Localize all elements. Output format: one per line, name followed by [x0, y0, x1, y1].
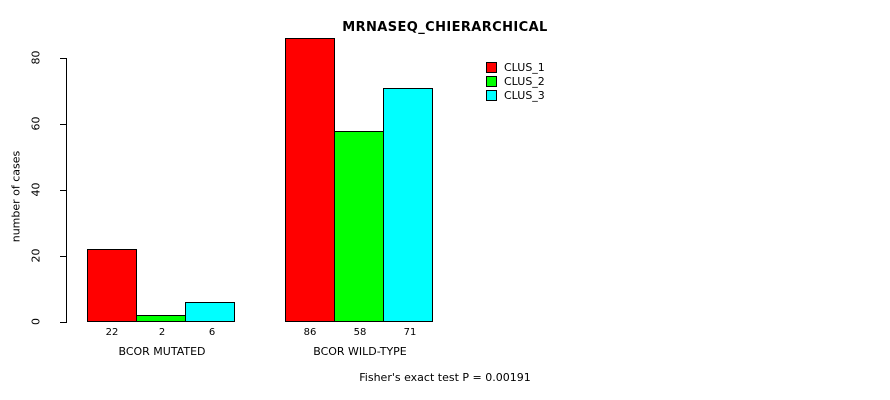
y-axis-tick-label: 0	[30, 308, 43, 336]
y-axis-tick	[60, 58, 67, 59]
y-axis-tick	[60, 190, 67, 191]
legend-color-swatch	[486, 76, 497, 87]
y-axis-tick-label: 40	[30, 176, 43, 204]
bar	[185, 302, 235, 322]
legend-item: CLUS_1	[486, 60, 545, 74]
bar-value-label: 2	[137, 327, 187, 338]
bar	[334, 131, 384, 322]
bar	[285, 38, 335, 322]
bar-value-labels: 2226	[87, 327, 237, 338]
bar-value-label: 22	[87, 327, 137, 338]
y-axis-tick	[60, 322, 67, 323]
group-axis-label: BCOR MUTATED	[87, 345, 237, 358]
bar-value-label: 6	[187, 327, 237, 338]
legend-label: CLUS_1	[504, 62, 545, 73]
y-axis-tick-label: 80	[30, 44, 43, 72]
statistical-test-annotation: Fisher's exact test P = 0.00191	[0, 371, 890, 384]
y-axis-tick-label: 60	[30, 110, 43, 138]
legend-color-swatch	[486, 62, 497, 73]
bar-value-label: 71	[385, 327, 435, 338]
legend-label: CLUS_3	[504, 90, 545, 101]
y-axis-tick	[60, 256, 67, 257]
legend-item: CLUS_2	[486, 74, 545, 88]
y-axis-title: number of cases	[10, 137, 23, 257]
y-axis-tick	[60, 124, 67, 125]
group-axis-label: BCOR WILD-TYPE	[285, 345, 435, 358]
bar	[136, 315, 186, 322]
chart-title: MRNASEQ_CHIERARCHICAL	[0, 20, 890, 35]
bar-value-label: 58	[335, 327, 385, 338]
legend-color-swatch	[486, 90, 497, 101]
chart-legend: CLUS_1CLUS_2CLUS_3	[486, 60, 545, 102]
legend-item: CLUS_3	[486, 88, 545, 102]
legend-label: CLUS_2	[504, 76, 545, 87]
bar-value-label: 86	[285, 327, 335, 338]
bar	[87, 249, 137, 322]
bar-value-labels: 865871	[285, 327, 435, 338]
y-axis-tick-label: 20	[30, 242, 43, 270]
bar	[383, 88, 433, 322]
bar-group	[87, 249, 234, 322]
bar-group	[285, 38, 432, 322]
chart-plot-area: MRNASEQ_CHIERARCHICAL 020406080 number o…	[0, 0, 890, 400]
